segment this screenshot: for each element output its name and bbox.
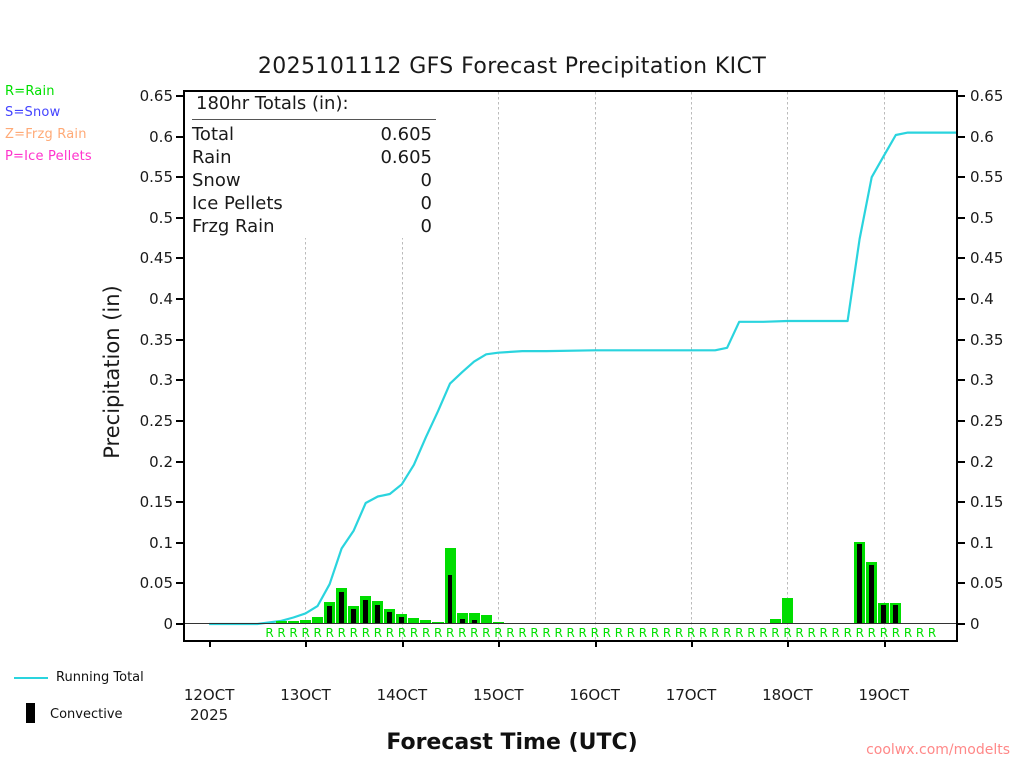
y-tick-label-left: 0.3 bbox=[95, 371, 173, 389]
y-tick-label-right: 0.05 bbox=[970, 574, 1024, 592]
ptype-marker: R bbox=[892, 627, 900, 639]
y-tick-label-right: 0.1 bbox=[970, 534, 1024, 552]
ptype-marker: R bbox=[819, 627, 827, 639]
y-tick-mark-right bbox=[958, 420, 965, 422]
x-tick-label: 19OCT bbox=[839, 686, 929, 704]
totals-row-label: Ice Pellets bbox=[192, 193, 283, 214]
totals-row-value: 0.605 bbox=[336, 147, 432, 168]
y-tick-label-right: 0.5 bbox=[970, 209, 1024, 227]
ptype-marker: R bbox=[518, 627, 526, 639]
totals-row-label: Snow bbox=[192, 170, 241, 191]
y-tick-label-left: 0 bbox=[95, 615, 173, 633]
ptype-key-ice-pellets: P=Ice Pellets bbox=[5, 149, 92, 164]
totals-row-label: Rain bbox=[192, 147, 232, 168]
ptype-marker: R bbox=[446, 627, 454, 639]
totals-row-value: 0 bbox=[336, 193, 432, 214]
y-tick-label-right: 0.2 bbox=[970, 453, 1024, 471]
convective-bar bbox=[339, 592, 344, 624]
ptype-marker: R bbox=[928, 627, 936, 639]
legend-line-swatch bbox=[14, 677, 48, 679]
y-tick-label-left: 0.4 bbox=[95, 290, 173, 308]
ptype-marker: R bbox=[338, 627, 346, 639]
y-tick-mark-left bbox=[176, 257, 183, 259]
y-tick-mark-right bbox=[958, 339, 965, 341]
y-tick-mark-right bbox=[958, 542, 965, 544]
ptype-marker: R bbox=[265, 627, 273, 639]
y-tick-mark-left bbox=[176, 623, 183, 625]
y-tick-mark-right bbox=[958, 95, 965, 97]
ptype-marker: R bbox=[554, 627, 562, 639]
y-tick-mark-left bbox=[176, 582, 183, 584]
totals-row-value: 0.605 bbox=[336, 124, 432, 145]
ptype-marker: R bbox=[470, 627, 478, 639]
ptype-marker: R bbox=[434, 627, 442, 639]
legend-running-total-label: Running Total bbox=[56, 670, 144, 685]
ptype-marker: R bbox=[458, 627, 466, 639]
y-tick-mark-right bbox=[958, 257, 965, 259]
y-tick-mark-right bbox=[958, 217, 965, 219]
convective-bar bbox=[375, 605, 380, 624]
ptype-marker: R bbox=[844, 627, 852, 639]
legend-convective-swatch bbox=[26, 703, 35, 723]
y-tick-mark-right bbox=[958, 501, 965, 503]
y-tick-mark-right bbox=[958, 379, 965, 381]
ptype-marker: R bbox=[916, 627, 924, 639]
convective-bar bbox=[448, 575, 453, 624]
ptype-marker: R bbox=[615, 627, 623, 639]
ptype-marker: R bbox=[301, 627, 309, 639]
y-tick-mark-left bbox=[176, 461, 183, 463]
ptype-marker: R bbox=[350, 627, 358, 639]
precip-bar bbox=[782, 598, 793, 624]
ptype-marker: R bbox=[904, 627, 912, 639]
ptype-key-freezing-rain: Z=Frzg Rain bbox=[5, 127, 87, 142]
ptype-marker: R bbox=[675, 627, 683, 639]
y-tick-label-right: 0.3 bbox=[970, 371, 1024, 389]
y-tick-mark-left bbox=[176, 298, 183, 300]
ptype-marker: R bbox=[386, 627, 394, 639]
convective-bar bbox=[351, 609, 356, 624]
y-tick-label-right: 0.45 bbox=[970, 249, 1024, 267]
y-tick-label-right: 0.65 bbox=[970, 87, 1024, 105]
y-tick-label-left: 0.6 bbox=[95, 128, 173, 146]
convective-bar bbox=[869, 565, 874, 624]
y-tick-mark-right bbox=[958, 136, 965, 138]
ptype-marker: R bbox=[422, 627, 430, 639]
ptype-marker: R bbox=[410, 627, 418, 639]
y-tick-mark-left bbox=[176, 136, 183, 138]
ptype-marker: R bbox=[542, 627, 550, 639]
y-tick-label-left: 0.25 bbox=[95, 412, 173, 430]
ptype-key-snow: S=Snow bbox=[5, 105, 60, 120]
y-tick-mark-left bbox=[176, 542, 183, 544]
ptype-marker: R bbox=[398, 627, 406, 639]
x-axis-year-label: 2025 bbox=[164, 706, 254, 724]
x-tick-label: 16OCT bbox=[550, 686, 640, 704]
ptype-marker: R bbox=[289, 627, 297, 639]
legend-convective-label: Convective bbox=[50, 707, 123, 722]
y-tick-label-left: 0.2 bbox=[95, 453, 173, 471]
ptype-marker: R bbox=[374, 627, 382, 639]
totals-box: 180hr Totals (in): Total0.605Rain0.605Sn… bbox=[186, 92, 442, 238]
ptype-marker: R bbox=[868, 627, 876, 639]
y-tick-label-left: 0.15 bbox=[95, 493, 173, 511]
ptype-marker: R bbox=[506, 627, 514, 639]
ptype-marker: R bbox=[567, 627, 575, 639]
ptype-marker: R bbox=[723, 627, 731, 639]
ptype-marker: R bbox=[747, 627, 755, 639]
convective-bar bbox=[893, 605, 898, 624]
ptype-marker: R bbox=[783, 627, 791, 639]
ptype-marker: R bbox=[832, 627, 840, 639]
y-tick-label-right: 0.55 bbox=[970, 168, 1024, 186]
x-tick-label: 12OCT bbox=[164, 686, 254, 704]
totals-underline bbox=[192, 119, 436, 120]
y-tick-label-left: 0.45 bbox=[95, 249, 173, 267]
y-tick-mark-right bbox=[958, 461, 965, 463]
y-tick-mark-right bbox=[958, 176, 965, 178]
ptype-marker: R bbox=[639, 627, 647, 639]
y-tick-mark-left bbox=[176, 501, 183, 503]
ptype-marker: R bbox=[856, 627, 864, 639]
x-tick-label: 17OCT bbox=[646, 686, 736, 704]
y-tick-label-left: 0.35 bbox=[95, 331, 173, 349]
y-tick-mark-left bbox=[176, 95, 183, 97]
y-tick-label-right: 0.25 bbox=[970, 412, 1024, 430]
y-tick-label-right: 0.6 bbox=[970, 128, 1024, 146]
totals-row-value: 0 bbox=[336, 170, 432, 191]
ptype-marker: R bbox=[759, 627, 767, 639]
y-tick-label-right: 0 bbox=[970, 615, 1024, 633]
y-tick-mark-left bbox=[176, 217, 183, 219]
y-tick-label-right: 0.35 bbox=[970, 331, 1024, 349]
ptype-marker: R bbox=[711, 627, 719, 639]
zero-line bbox=[185, 623, 956, 624]
ptype-marker: R bbox=[530, 627, 538, 639]
x-tick-label: 15OCT bbox=[453, 686, 543, 704]
totals-row-label: Frzg Rain bbox=[192, 216, 275, 237]
ptype-marker: R bbox=[699, 627, 707, 639]
y-tick-mark-right bbox=[958, 623, 965, 625]
y-tick-label-right: 0.4 bbox=[970, 290, 1024, 308]
convective-bar bbox=[327, 606, 332, 624]
totals-header: 180hr Totals (in): bbox=[196, 93, 349, 114]
y-tick-label-left: 0.55 bbox=[95, 168, 173, 186]
ptype-marker: R bbox=[663, 627, 671, 639]
x-tick-label: 13OCT bbox=[260, 686, 350, 704]
ptype-marker: R bbox=[362, 627, 370, 639]
y-tick-mark-left bbox=[176, 339, 183, 341]
ptype-marker: R bbox=[603, 627, 611, 639]
ptype-marker: R bbox=[591, 627, 599, 639]
ptype-marker: R bbox=[807, 627, 815, 639]
x-tick-label: 14OCT bbox=[357, 686, 447, 704]
ptype-marker: R bbox=[651, 627, 659, 639]
convective-bar bbox=[881, 605, 886, 624]
y-tick-mark-right bbox=[958, 298, 965, 300]
ptype-marker: R bbox=[494, 627, 502, 639]
totals-row-value: 0 bbox=[336, 216, 432, 237]
y-tick-label-left: 0.65 bbox=[95, 87, 173, 105]
y-tick-label-left: 0.5 bbox=[95, 209, 173, 227]
y-tick-label-left: 0.05 bbox=[95, 574, 173, 592]
ptype-marker: R bbox=[277, 627, 285, 639]
ptype-marker: R bbox=[326, 627, 334, 639]
ptype-marker: R bbox=[482, 627, 490, 639]
y-tick-label-right: 0.15 bbox=[970, 493, 1024, 511]
page-title: 2025101112 GFS Forecast Precipitation KI… bbox=[0, 54, 1024, 79]
y-tick-mark-left bbox=[176, 379, 183, 381]
ptype-marker: R bbox=[771, 627, 779, 639]
convective-bar bbox=[857, 544, 862, 624]
ptype-marker: R bbox=[314, 627, 322, 639]
ptype-marker: R bbox=[880, 627, 888, 639]
watermark: coolwx.com/modelts bbox=[866, 742, 1010, 758]
totals-row-label: Total bbox=[192, 124, 234, 145]
y-tick-mark-right bbox=[958, 582, 965, 584]
ptype-marker: R bbox=[735, 627, 743, 639]
convective-bar bbox=[363, 600, 368, 624]
y-tick-mark-left bbox=[176, 420, 183, 422]
y-tick-label-left: 0.1 bbox=[95, 534, 173, 552]
ptype-key-rain: R=Rain bbox=[5, 84, 55, 99]
y-tick-mark-left bbox=[176, 176, 183, 178]
ptype-marker: R bbox=[627, 627, 635, 639]
x-tick-label: 18OCT bbox=[742, 686, 832, 704]
ptype-marker: R bbox=[795, 627, 803, 639]
ptype-marker: R bbox=[579, 627, 587, 639]
ptype-marker: R bbox=[687, 627, 695, 639]
